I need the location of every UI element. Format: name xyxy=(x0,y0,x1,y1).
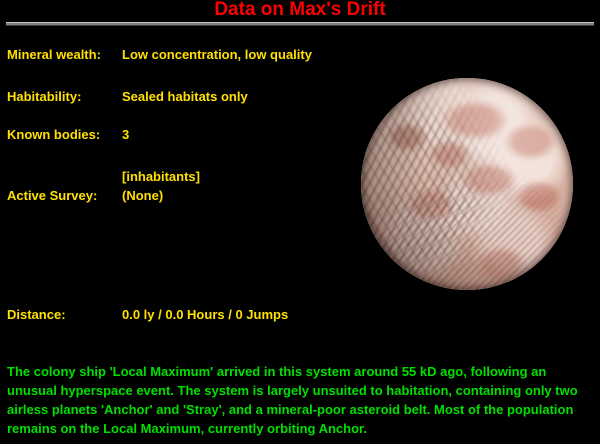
stat-row-known-bodies: Known bodies:3 xyxy=(7,127,129,143)
distance-value: 0.0 ly / 0.0 Hours / 0 Jumps xyxy=(122,307,288,323)
page-title: Data on Max's Drift xyxy=(0,0,600,21)
distance-label: Distance: xyxy=(7,307,122,323)
system-data-screen: Data on Max's Drift Mineral wealth:Low c… xyxy=(0,0,600,444)
stat-value-secondary: (None) xyxy=(122,188,200,204)
stat-label: Known bodies: xyxy=(7,127,122,143)
stat-value: Sealed habitats only xyxy=(122,89,248,105)
stat-label: Active Survey: xyxy=(7,188,122,204)
stat-row-mineral-wealth: Mineral wealth:Low concentration, low qu… xyxy=(7,47,312,63)
stat-row-distance: Distance:0.0 ly / 0.0 Hours / 0 Jumps xyxy=(7,307,288,323)
stat-value-primary: [inhabitants] xyxy=(122,169,200,184)
header-divider xyxy=(6,22,594,26)
planet-image xyxy=(361,78,573,290)
stat-value: [inhabitants](None) xyxy=(122,169,200,204)
stat-label: Mineral wealth: xyxy=(7,47,122,63)
system-description: The colony ship 'Local Maximum' arrived … xyxy=(7,362,595,438)
stat-row-active-survey: Active Survey:[inhabitants](None) xyxy=(7,169,200,204)
stat-label: Habitability: xyxy=(7,89,122,105)
planet-edge-vignette xyxy=(361,78,573,290)
stat-value: Low concentration, low quality xyxy=(122,47,312,63)
planet-sphere xyxy=(361,78,573,290)
stat-row-habitability: Habitability:Sealed habitats only xyxy=(7,89,248,105)
stat-value: 3 xyxy=(122,127,129,143)
